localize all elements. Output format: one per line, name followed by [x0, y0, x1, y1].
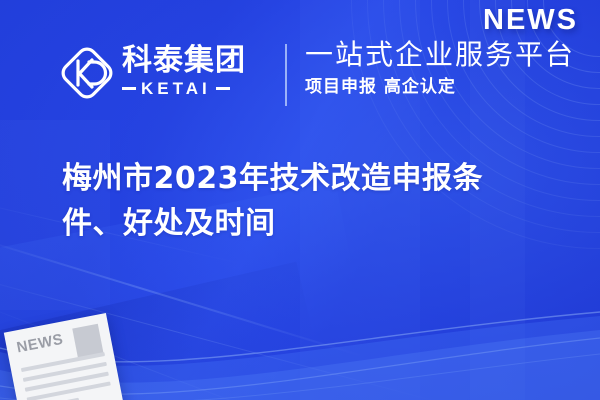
- tagline-primary: 一站式企业服务平台: [305, 38, 575, 72]
- tagline-block: 一站式企业服务平台 项目申报 高企认定: [305, 38, 575, 98]
- news-badge: NEWS: [483, 4, 578, 37]
- dash-right-icon: [216, 87, 230, 90]
- brand-name-cn: 科泰集团: [122, 44, 272, 78]
- brand-name-en: KETAI: [141, 79, 211, 98]
- banner-header: 科泰集团 KETAI 一站式企业服务平台 项目申报 高企认定 NEWS: [0, 0, 600, 130]
- header-divider: [285, 44, 287, 106]
- ketai-logo-icon: [58, 44, 116, 102]
- dash-left-icon: [122, 87, 136, 90]
- page-title: 梅州市2023年技术改造申报条件、好处及时间: [62, 156, 532, 246]
- news-banner: 科泰集团 KETAI 一站式企业服务平台 项目申报 高企认定 NEWS 梅州市2…: [0, 0, 600, 400]
- brand-name-en-row: KETAI: [122, 79, 272, 98]
- brand-wordmark: 科泰集团 KETAI: [122, 44, 272, 98]
- tagline-secondary: 项目申报 高企认定: [305, 76, 575, 98]
